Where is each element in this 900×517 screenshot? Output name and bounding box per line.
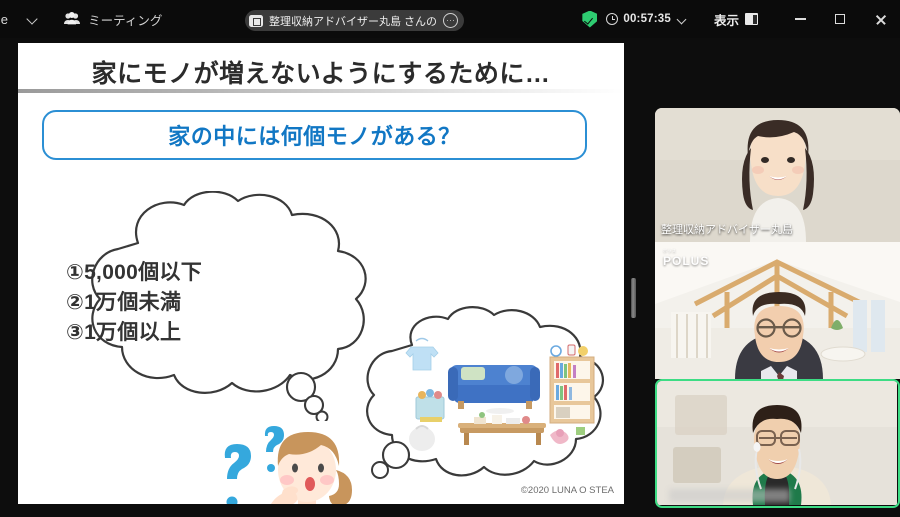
app-name-label: ce <box>0 12 8 27</box>
minimize-button[interactable] <box>780 0 820 38</box>
toolbar-right-group: 00:57:35 表示 <box>582 0 900 38</box>
meeting-menu[interactable]: ミーティング <box>63 10 162 29</box>
list-item: ②1万個未満 <box>66 288 326 318</box>
more-options-icon[interactable] <box>443 13 458 28</box>
chevron-down-icon[interactable] <box>25 11 41 27</box>
toolbar-left-group: ce ミーティング <box>0 0 162 38</box>
answer-options-list: ①5,000個以下 ②1万個未満 ③1万個以上 <box>66 258 326 347</box>
shield-check-icon[interactable] <box>582 11 597 28</box>
video-tile[interactable]: ポラス POLUS <box>655 242 900 379</box>
polus-watermark: ポラス POLUS <box>663 248 709 268</box>
screen-share-icon <box>249 15 263 27</box>
meeting-menu-label: ミーティング <box>88 10 162 29</box>
copyright-notice: ©2020 LUNA O STEA <box>521 485 614 496</box>
view-layout-label: 表示 <box>714 10 739 29</box>
restore-button[interactable] <box>820 0 860 38</box>
people-icon <box>63 11 81 27</box>
question-callout-box: 家の中には何個モノがある？ <box>42 110 587 160</box>
participant-name-label: 整理収納アドバイザー丸島 <box>661 221 793 237</box>
view-layout-button[interactable]: 表示 <box>714 10 758 29</box>
window-controls <box>780 0 900 38</box>
participant-video-panel: 整理収納アドバイザー丸島 <box>655 108 900 508</box>
shared-slide[interactable]: 家にモノが増えないようにするために… 家の中には何個モノがある？ ①5,000個… <box>18 43 624 504</box>
list-item: ③1万個以上 <box>66 318 326 348</box>
polus-watermark-text: POLUS <box>663 254 709 268</box>
chevron-down-icon[interactable] <box>676 13 688 25</box>
meeting-stage: 家にモノが増えないようにするために… 家の中には何個モノがある？ ①5,000個… <box>0 38 900 517</box>
question-mark-icon <box>225 426 284 504</box>
meeting-window: ce ミーティング 整理収納アドバイザー丸島 さんの <box>0 0 900 517</box>
meeting-timer[interactable]: 00:57:35 <box>606 13 688 25</box>
video-blur-overlay <box>669 489 790 502</box>
clock-icon <box>606 13 618 25</box>
thinking-woman-illustration <box>203 418 378 504</box>
slide-title: 家にモノが増えないようにするために… <box>18 54 624 90</box>
layout-icon <box>745 13 758 25</box>
panel-resize-handle[interactable] <box>631 278 636 318</box>
list-item: ①5,000個以下 <box>66 258 326 288</box>
video-tile-active-speaker[interactable] <box>655 379 900 508</box>
living-room-illustration <box>354 305 624 480</box>
meeting-timer-label: 00:57:35 <box>623 13 671 25</box>
video-tile[interactable]: 整理収納アドバイザー丸島 <box>655 108 900 242</box>
title-divider <box>18 89 624 93</box>
top-toolbar: ce ミーティング 整理収納アドバイザー丸島 さんの <box>0 0 900 38</box>
close-button[interactable] <box>860 0 900 38</box>
share-owner-label: 整理収納アドバイザー丸島 さんの <box>269 13 437 29</box>
screen-share-indicator-pill[interactable]: 整理収納アドバイザー丸島 さんの <box>245 10 464 31</box>
question-callout-text: 家の中には何個モノがある？ <box>168 119 461 151</box>
